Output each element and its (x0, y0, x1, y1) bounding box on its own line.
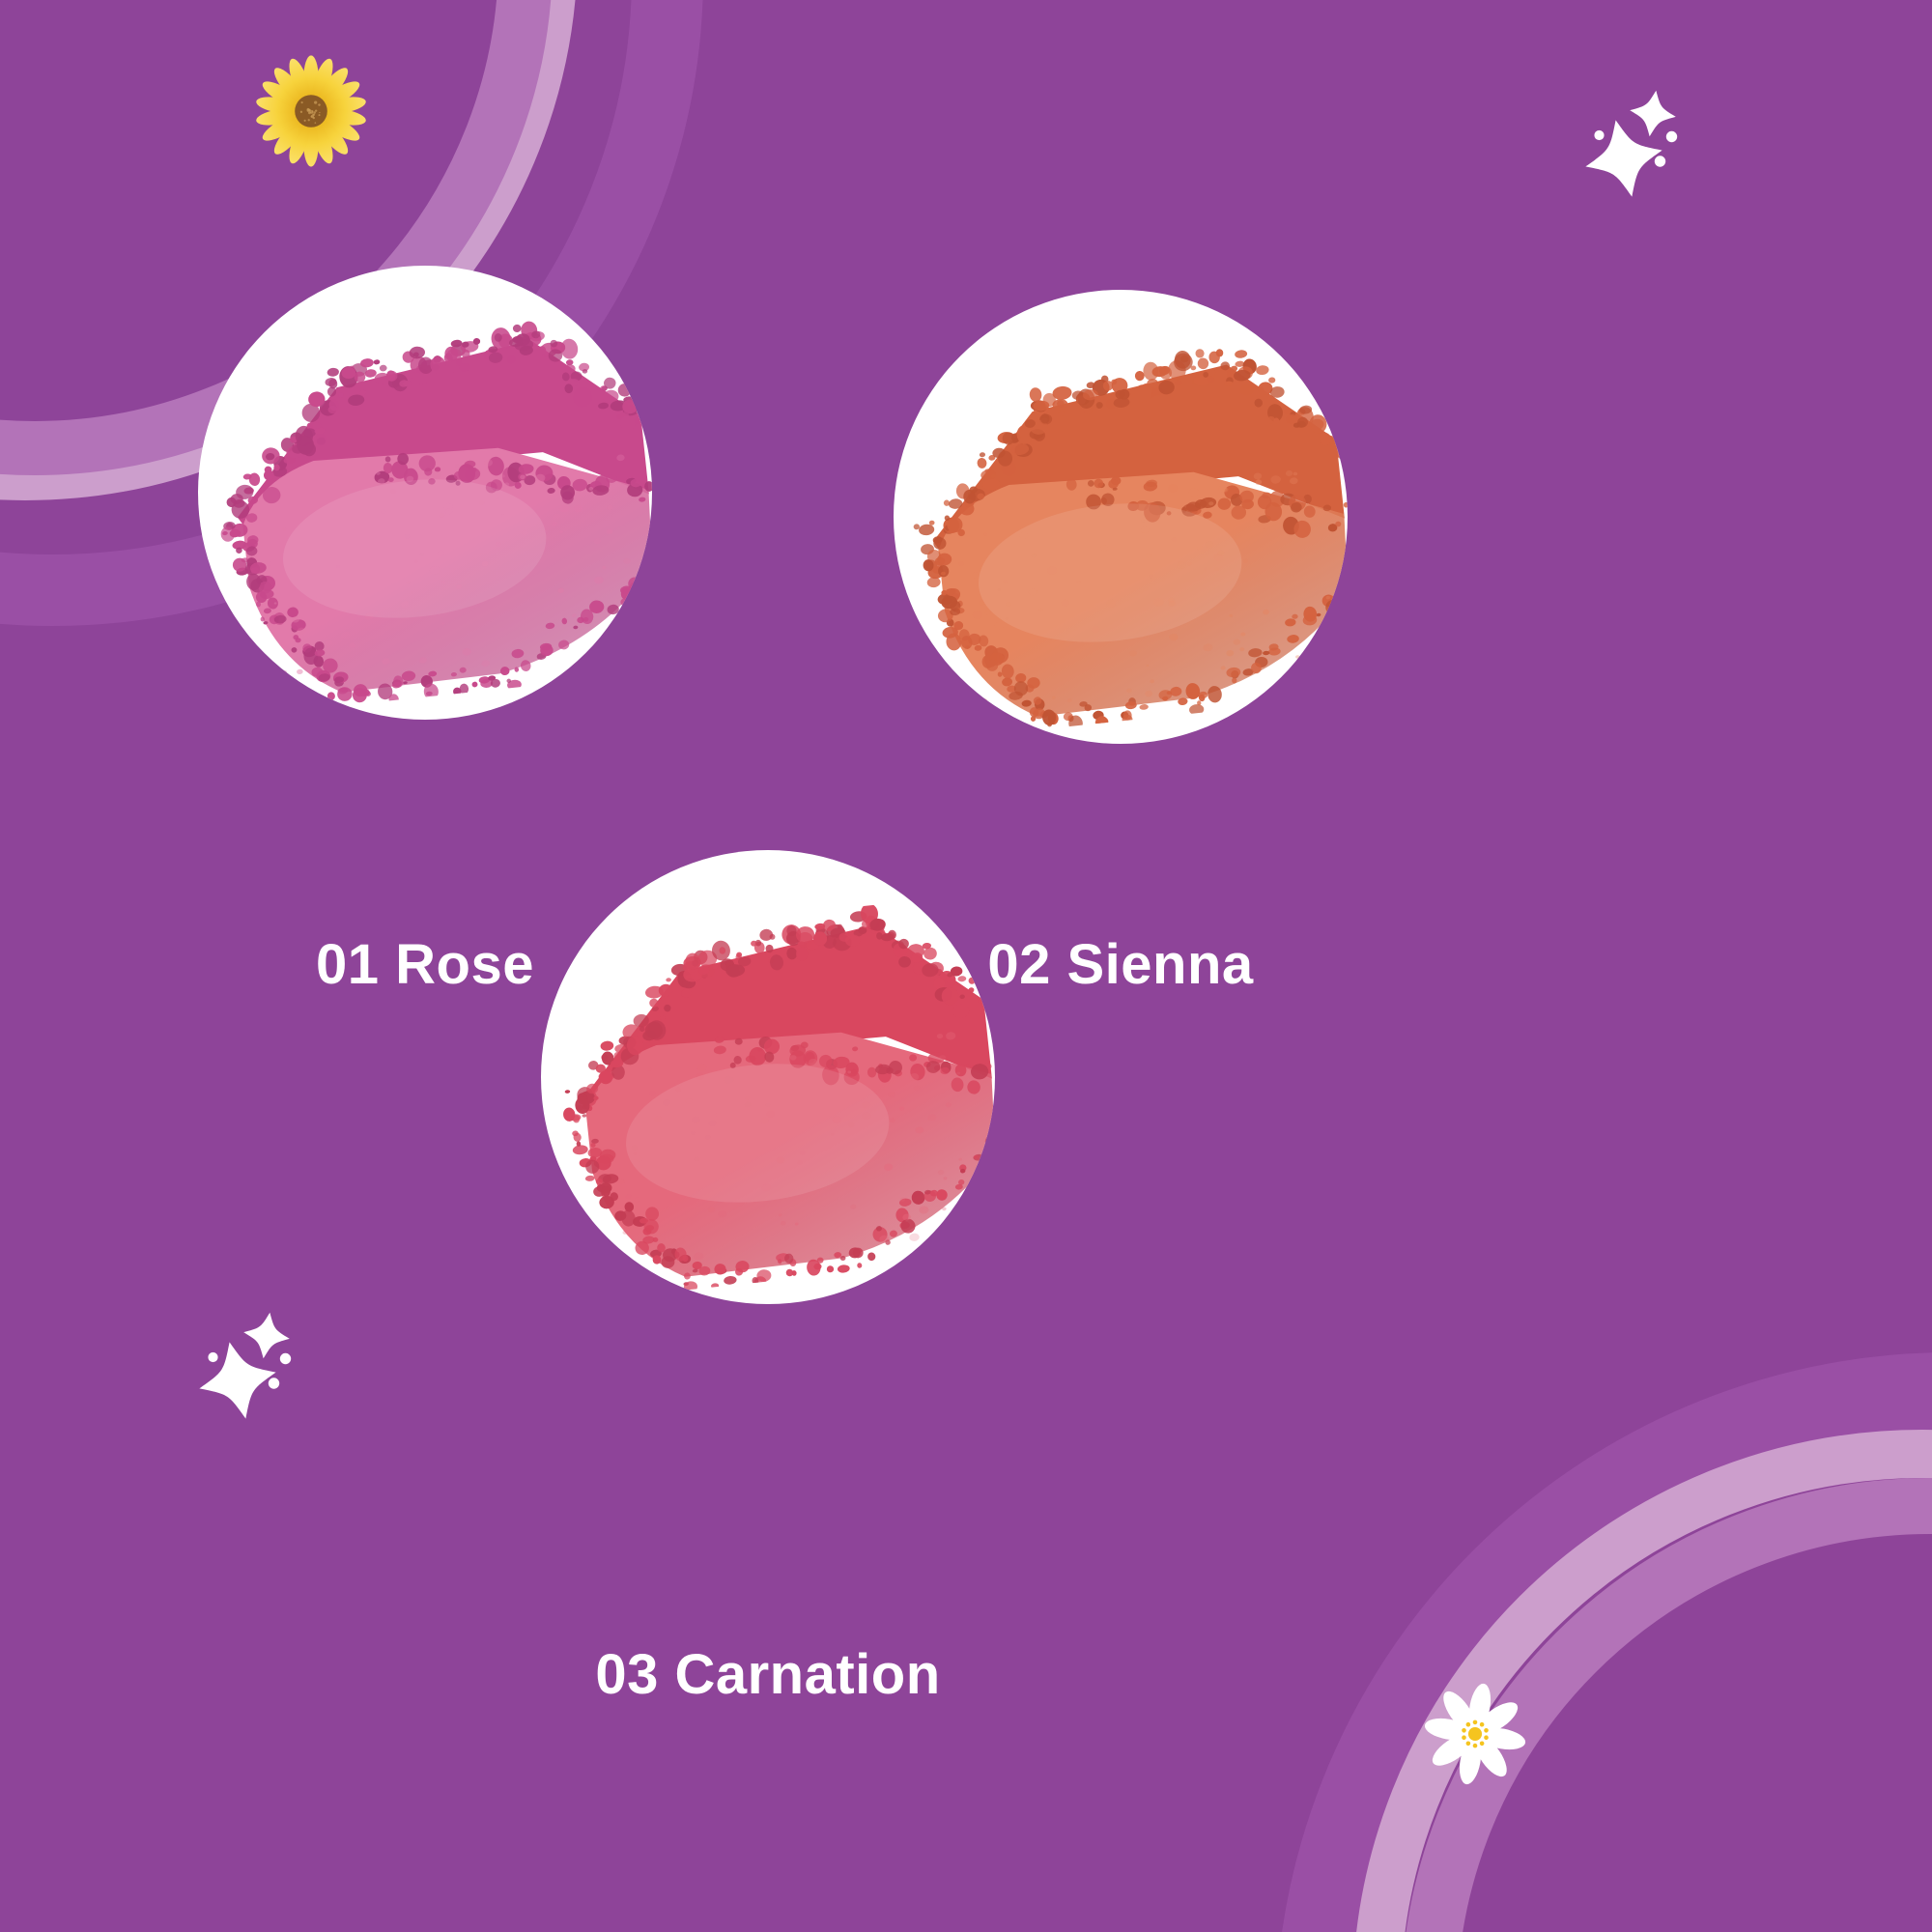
shade-chart-canvas: 01 Rose02 Sienna03 Carnation (0, 0, 1932, 1932)
shade-label: 03 Carnation (502, 1642, 1034, 1707)
powder-swatch (544, 894, 995, 1301)
shade-disc[interactable] (541, 850, 995, 1304)
shade-card-carnation[interactable]: 03 Carnation (0, 0, 1932, 1932)
